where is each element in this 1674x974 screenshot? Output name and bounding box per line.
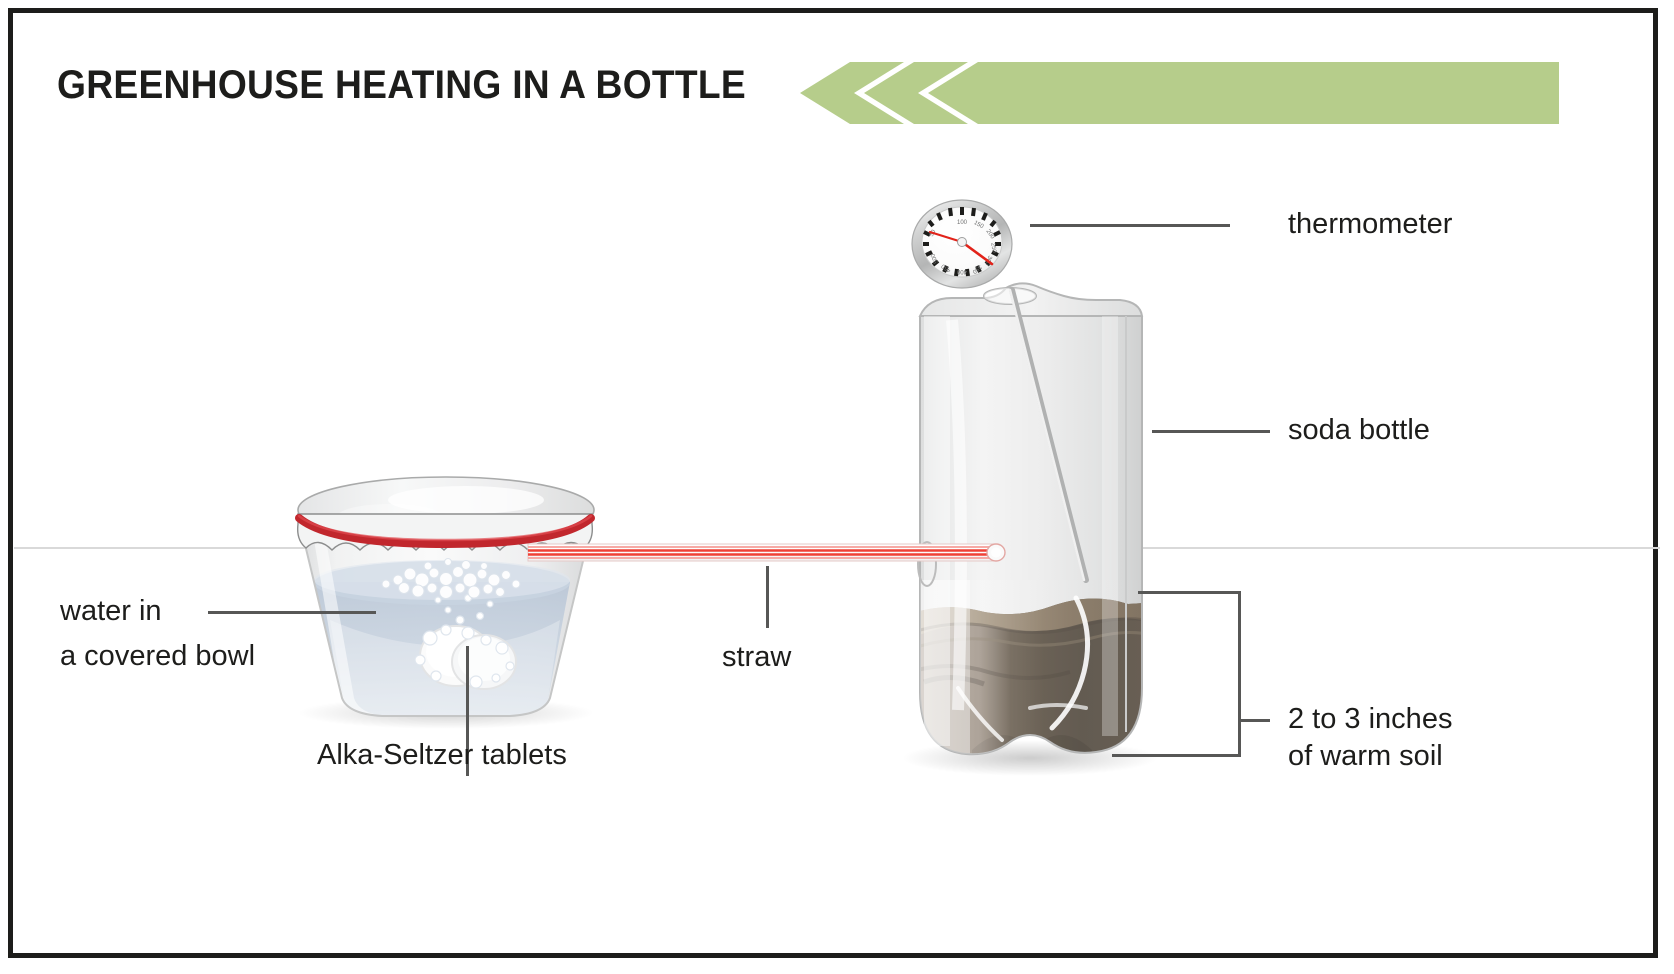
label-thermometer: thermometer (1288, 206, 1452, 242)
leader-thermometer (1030, 224, 1230, 227)
svg-text:400: 400 (956, 268, 967, 274)
page-title: GREENHOUSE HEATING IN A BOTTLE (57, 63, 746, 108)
label-soil-line1: 2 to 3 inches (1288, 701, 1452, 737)
banner-chevrons (786, 62, 1559, 124)
leader-soda-bottle (1152, 430, 1270, 433)
leader-straw (766, 566, 769, 628)
diagram-frame (8, 8, 1658, 958)
label-tablets: Alka-Seltzer tablets (317, 737, 567, 773)
label-water-line2: a covered bowl (60, 638, 255, 674)
label-soda-bottle: soda bottle (1288, 412, 1430, 448)
leader-water-bowl (208, 611, 376, 614)
soda-bottle-illustration (880, 280, 1200, 780)
thermometer-dial: 100 150 200 250 300 350 400 450 500 50 (900, 192, 1030, 302)
label-straw: straw (722, 639, 791, 675)
straw-illustration (528, 536, 1010, 568)
label-soil-line2: of warm soil (1288, 738, 1443, 774)
diagram-canvas: GREENHOUSE HEATING IN A BOTTLE (0, 0, 1674, 974)
label-water-line1: water in (60, 593, 162, 629)
svg-text:100: 100 (957, 220, 968, 226)
covered-bowl-illustration (270, 470, 640, 730)
